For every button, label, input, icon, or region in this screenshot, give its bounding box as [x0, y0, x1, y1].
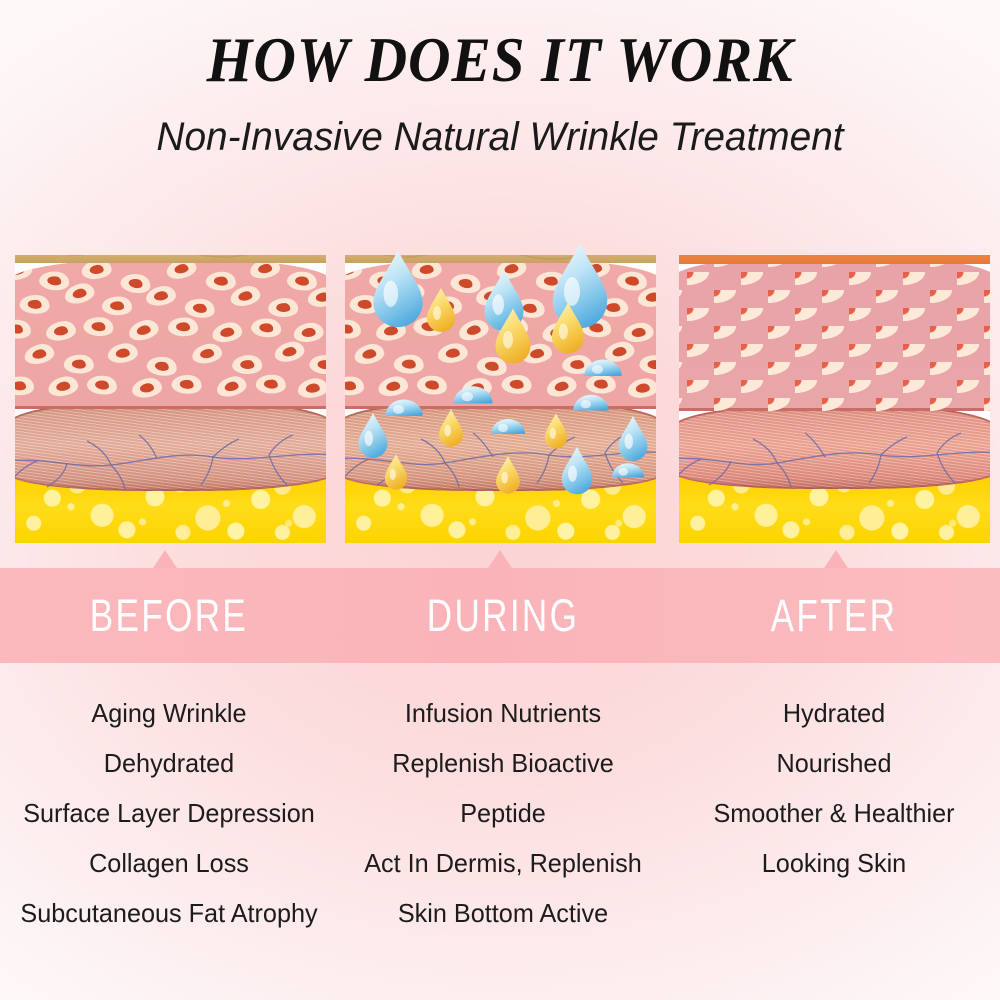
infographic-root: HOW DOES IT WORK Non-Invasive Natural Wr…: [0, 0, 1000, 1000]
oil-droplet-icon: [496, 456, 520, 493]
epidermis-layer-wavy: [15, 255, 326, 263]
pointer-notch-during: [488, 550, 512, 568]
oil-droplet-icon: [439, 409, 463, 446]
pointer-notch-before: [153, 550, 177, 568]
stage-label-during: DURING: [374, 568, 631, 663]
benefit-column-after: Hydrated Nourished Smoother & Healthier …: [668, 688, 1000, 888]
water-droplet-icon: [359, 413, 388, 458]
benefit-item: Aging Wrinkle: [5, 688, 333, 738]
benefit-item: Replenish Bioactive: [343, 738, 663, 788]
dermis-layer: [679, 256, 990, 411]
water-bubble-icon: [491, 419, 525, 434]
skin-panel-before: [15, 255, 326, 543]
benefit-item: Act In Dermis, Replenish: [343, 838, 663, 888]
benefit-item: Looking Skin: [673, 838, 995, 888]
droplets-overlay: [345, 200, 656, 550]
benefit-column-before: Aging Wrinkle Dehydrated Surface Layer D…: [0, 688, 338, 938]
benefit-item: Infusion Nutrients: [343, 688, 663, 738]
water-droplet-icon: [373, 250, 422, 327]
benefit-columns: Aging Wrinkle Dehydrated Surface Layer D…: [0, 688, 1000, 978]
page-subtitle: Non-Invasive Natural Wrinkle Treatment: [15, 93, 985, 159]
benefit-item: Peptide: [343, 788, 663, 838]
water-droplet-icon: [562, 447, 593, 495]
benefit-item: Skin Bottom Active: [343, 888, 663, 938]
hypodermis-layer: [15, 399, 326, 491]
water-bubble-icon: [612, 463, 644, 477]
water-bubble-icon: [385, 400, 422, 417]
page-title: HOW DOES IT WORK: [40, 0, 960, 93]
skin-diagram-before: [15, 255, 326, 543]
oil-droplet-icon: [385, 454, 407, 489]
water-bubble-icon: [573, 395, 609, 411]
skin-diagram-after: [679, 255, 990, 543]
oil-droplet-icon: [545, 413, 567, 448]
irregular-cell-cluster-icon: [15, 259, 326, 409]
blood-vessel-icon: [679, 403, 990, 489]
water-bubble-icon: [453, 386, 492, 403]
benefit-column-during: Infusion Nutrients Replenish Bioactive P…: [338, 688, 668, 938]
dermis-layer: [15, 259, 326, 409]
benefit-item: Surface Layer Depression: [5, 788, 333, 838]
panel-row: [0, 255, 1000, 547]
stage-label-before: BEFORE: [37, 568, 301, 663]
stage-label-band: BEFORE DURING AFTER: [0, 568, 1000, 663]
header: HOW DOES IT WORK Non-Invasive Natural Wr…: [0, 0, 1000, 159]
stage-label-after: AFTER: [705, 568, 964, 663]
epidermis-layer-smooth: [679, 255, 990, 260]
benefit-item: Smoother & Healthier: [673, 788, 995, 838]
benefit-item: Nourished: [673, 738, 995, 788]
water-droplet-icon: [619, 416, 648, 461]
pointer-notch-after: [824, 550, 848, 568]
blood-vessel-icon: [15, 399, 326, 491]
skin-panel-after: [679, 255, 990, 543]
oil-droplet-icon: [427, 288, 455, 332]
hypodermis-layer: [679, 403, 990, 489]
benefit-item: Hydrated: [673, 688, 995, 738]
water-bubble-icon: [584, 360, 621, 377]
benefit-item: Dehydrated: [5, 738, 333, 788]
benefit-item: Collagen Loss: [5, 838, 333, 888]
benefit-item: Subcutaneous Fat Atrophy: [5, 888, 333, 938]
